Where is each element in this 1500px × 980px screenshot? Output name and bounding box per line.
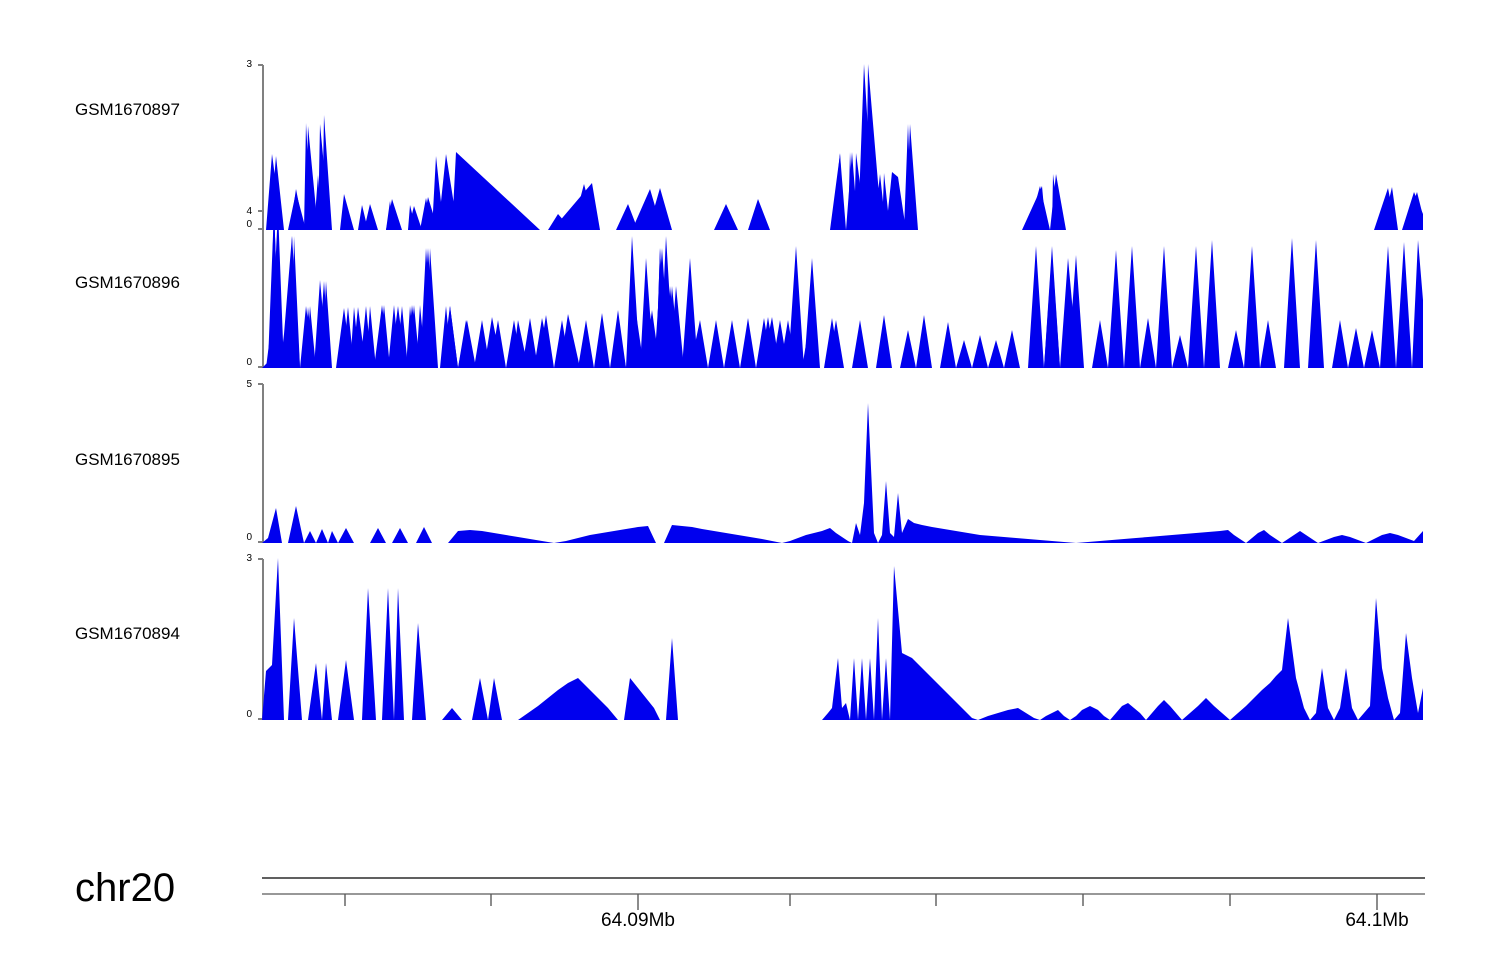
coverage-track-row: GSM1670896 4 0 <box>0 205 1500 370</box>
axis-ruler[interactable] <box>262 862 1430 922</box>
y-axis-min-label: 0 <box>246 358 252 368</box>
axis-tick-label: 64.09Mb <box>601 910 675 932</box>
y-axis-max-label: 3 <box>246 554 252 564</box>
y-axis-min-label: 0 <box>246 533 252 543</box>
track-label: GSM1670897 <box>75 100 240 120</box>
coverage-track-row: GSM1670895 5 0 <box>0 378 1500 544</box>
coverage-area-shape-full <box>262 210 1423 368</box>
coverage-track-row: GSM1670897 3 0 <box>0 30 1500 200</box>
axis-tick-label: 64.1Mb <box>1345 910 1408 932</box>
coverage-area-plot[interactable] <box>262 210 1423 368</box>
genome-browser: GSM1670897 3 0 GSM1670896 4 0 <box>0 0 1500 980</box>
y-axis-max-label: 4 <box>246 207 252 217</box>
y-axis-labels: 5 0 <box>232 378 252 544</box>
y-axis-min-label: 0 <box>246 710 252 720</box>
coverage-track-row: GSM1670894 3 0 <box>0 552 1500 722</box>
y-axis-max-label: 5 <box>246 380 252 390</box>
track-label: GSM1670895 <box>75 450 240 470</box>
track-label: GSM1670896 <box>75 273 240 293</box>
coverage-area-plot[interactable] <box>262 383 1423 543</box>
coverage-area-shape-full <box>262 403 1423 543</box>
chromosome-name-label: chr20 <box>75 866 175 911</box>
track-label: GSM1670894 <box>75 624 240 644</box>
coverage-area-shape-full <box>262 558 1423 720</box>
axis-ticks <box>345 894 1377 910</box>
y-axis-max-label: 3 <box>246 60 252 70</box>
y-axis-labels: 3 0 <box>232 552 252 722</box>
genome-coordinate-axis: chr20 64.09Mb 64.1Mb <box>0 862 1500 972</box>
y-axis-labels: 4 0 <box>232 205 252 370</box>
coverage-area-plot[interactable] <box>262 558 1423 720</box>
